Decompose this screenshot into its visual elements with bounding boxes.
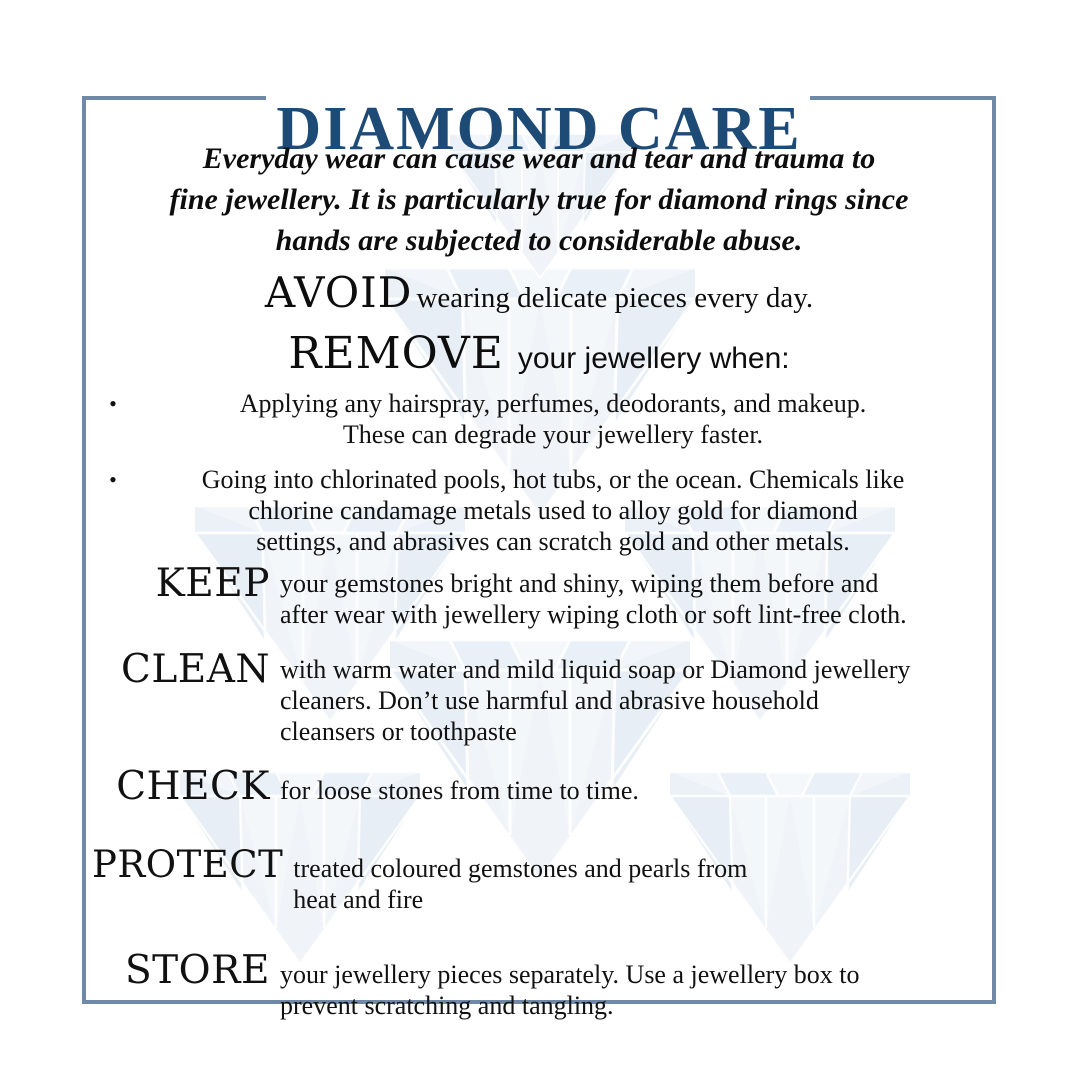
- intro-line-3: hands are subjected to considerable abus…: [94, 220, 984, 261]
- list-item: • Applying any hairspray, perfumes, deod…: [100, 388, 980, 450]
- care-row-protect: PROTECT treated coloured gemstones and p…: [92, 843, 992, 915]
- list-item-text: Applying any hairspray, perfumes, deodor…: [126, 388, 980, 450]
- care-body-protect: treated coloured gemstones and pearls fr…: [293, 843, 992, 915]
- care-row-check: CHECK for loose stones from time to time…: [92, 765, 992, 809]
- list-item-line-2: chlorine candamage metals used to alloy …: [126, 495, 980, 526]
- remove-bullet-list: • Applying any hairspray, perfumes, deod…: [100, 388, 980, 571]
- care-instruction-rows: KEEP your gemstones bright and shiny, wi…: [92, 562, 992, 1021]
- list-item-line-1: Applying any hairspray, perfumes, deodor…: [126, 388, 980, 419]
- care-keyword-store: STORE: [92, 949, 280, 993]
- poster-content: DIAMOND CARE Everyday wear can cause wea…: [82, 0, 996, 1080]
- list-item-line-3: settings, and abrasives can scratch gold…: [126, 526, 980, 557]
- avoid-keyword: AVOID: [265, 268, 413, 317]
- care-keyword-protect: PROTECT: [92, 843, 293, 887]
- care-body-line-2: prevent scratching and tangling.: [280, 990, 992, 1021]
- care-body-line-2: after wear with jewellery wiping cloth o…: [280, 599, 992, 630]
- care-body-check: for loose stones from time to time.: [280, 765, 992, 806]
- remove-statement: REMOVE your jewellery when:: [82, 328, 996, 379]
- intro-line-1: Everyday wear can cause wear and tear an…: [94, 138, 984, 179]
- intro-paragraph: Everyday wear can cause wear and tear an…: [94, 138, 984, 261]
- intro-line-2: fine jewellery. It is particularly true …: [94, 179, 984, 220]
- care-row-store: STORE your jewellery pieces separately. …: [92, 949, 992, 1021]
- care-keyword-check: CHECK: [92, 765, 280, 809]
- care-row-clean: CLEAN with warm water and mild liquid so…: [92, 648, 992, 747]
- care-body-keep: your gemstones bright and shiny, wiping …: [280, 562, 992, 630]
- care-body-line-2: cleaners. Don’t use harmful and abrasive…: [280, 685, 992, 716]
- care-body-line-3: cleansers or toothpaste: [280, 716, 992, 747]
- list-item-line-2: These can degrade your jewellery faster.: [126, 419, 980, 450]
- care-keyword-clean: CLEAN: [92, 648, 280, 692]
- care-body-line-1: for loose stones from time to time.: [280, 775, 992, 806]
- care-row-keep: KEEP your gemstones bright and shiny, wi…: [92, 562, 992, 630]
- list-item-text: Going into chlorinated pools, hot tubs, …: [126, 464, 980, 557]
- remove-keyword: REMOVE: [288, 328, 504, 379]
- care-keyword-keep: KEEP: [92, 562, 280, 606]
- avoid-statement: AVOID wearing delicate pieces every day.: [82, 268, 996, 317]
- care-body-clean: with warm water and mild liquid soap or …: [280, 648, 992, 747]
- bullet-icon: •: [100, 388, 126, 420]
- care-body-line-2: heat and fire: [293, 884, 992, 915]
- bullet-icon: •: [100, 464, 126, 496]
- avoid-text: wearing delicate pieces every day.: [416, 282, 813, 314]
- list-item-line-1: Going into chlorinated pools, hot tubs, …: [126, 464, 980, 495]
- care-body-line-1: treated coloured gemstones and pearls fr…: [293, 853, 992, 884]
- care-body-line-1: your gemstones bright and shiny, wiping …: [280, 568, 992, 599]
- care-body-store: your jewellery pieces separately. Use a …: [280, 949, 992, 1021]
- remove-text: your jewellery when:: [518, 342, 790, 375]
- care-body-line-1: with warm water and mild liquid soap or …: [280, 654, 992, 685]
- care-body-line-1: your jewellery pieces separately. Use a …: [280, 959, 992, 990]
- diamond-care-poster: DIAMOND CARE Everyday wear can cause wea…: [0, 0, 1080, 1080]
- list-item: • Going into chlorinated pools, hot tubs…: [100, 464, 980, 557]
